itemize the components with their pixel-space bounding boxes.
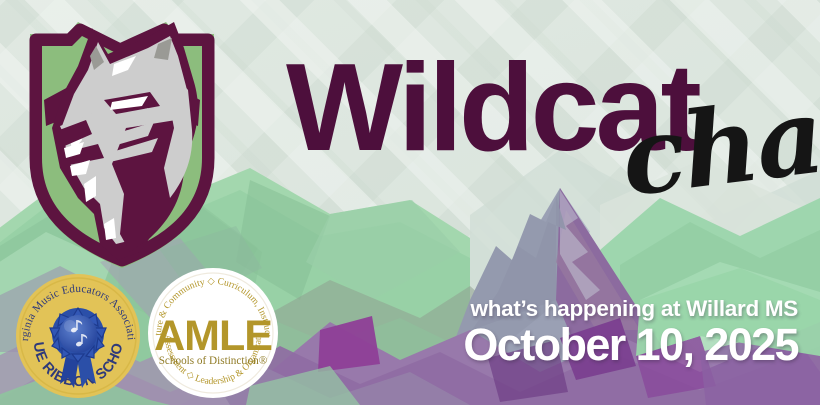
issue-date: October 10, 2025	[463, 321, 798, 369]
amle-subtitle: Schools of Distinction®	[159, 355, 268, 367]
date-block: what’s happening at Willard MS October 1…	[463, 296, 798, 369]
vmea-blue-ribbon-badge: Virginia Music Educators Association BLU…	[14, 272, 142, 400]
amle-distinction-badge: Culture & Community ◇ Curriculum, Instru…	[146, 266, 280, 400]
amle-acronym: AMLE	[154, 312, 272, 360]
amle-schools-of-distinction-seal-icon: Culture & Community ◇ Curriculum, Instru…	[146, 266, 280, 400]
school-logo	[8, 8, 236, 276]
wildcat-shield-icon	[8, 8, 236, 276]
blue-ribbon-school-seal-icon: Virginia Music Educators Association BLU…	[14, 272, 142, 400]
newsletter-banner: Wildcat chat what’s happening at Willard…	[0, 0, 820, 405]
